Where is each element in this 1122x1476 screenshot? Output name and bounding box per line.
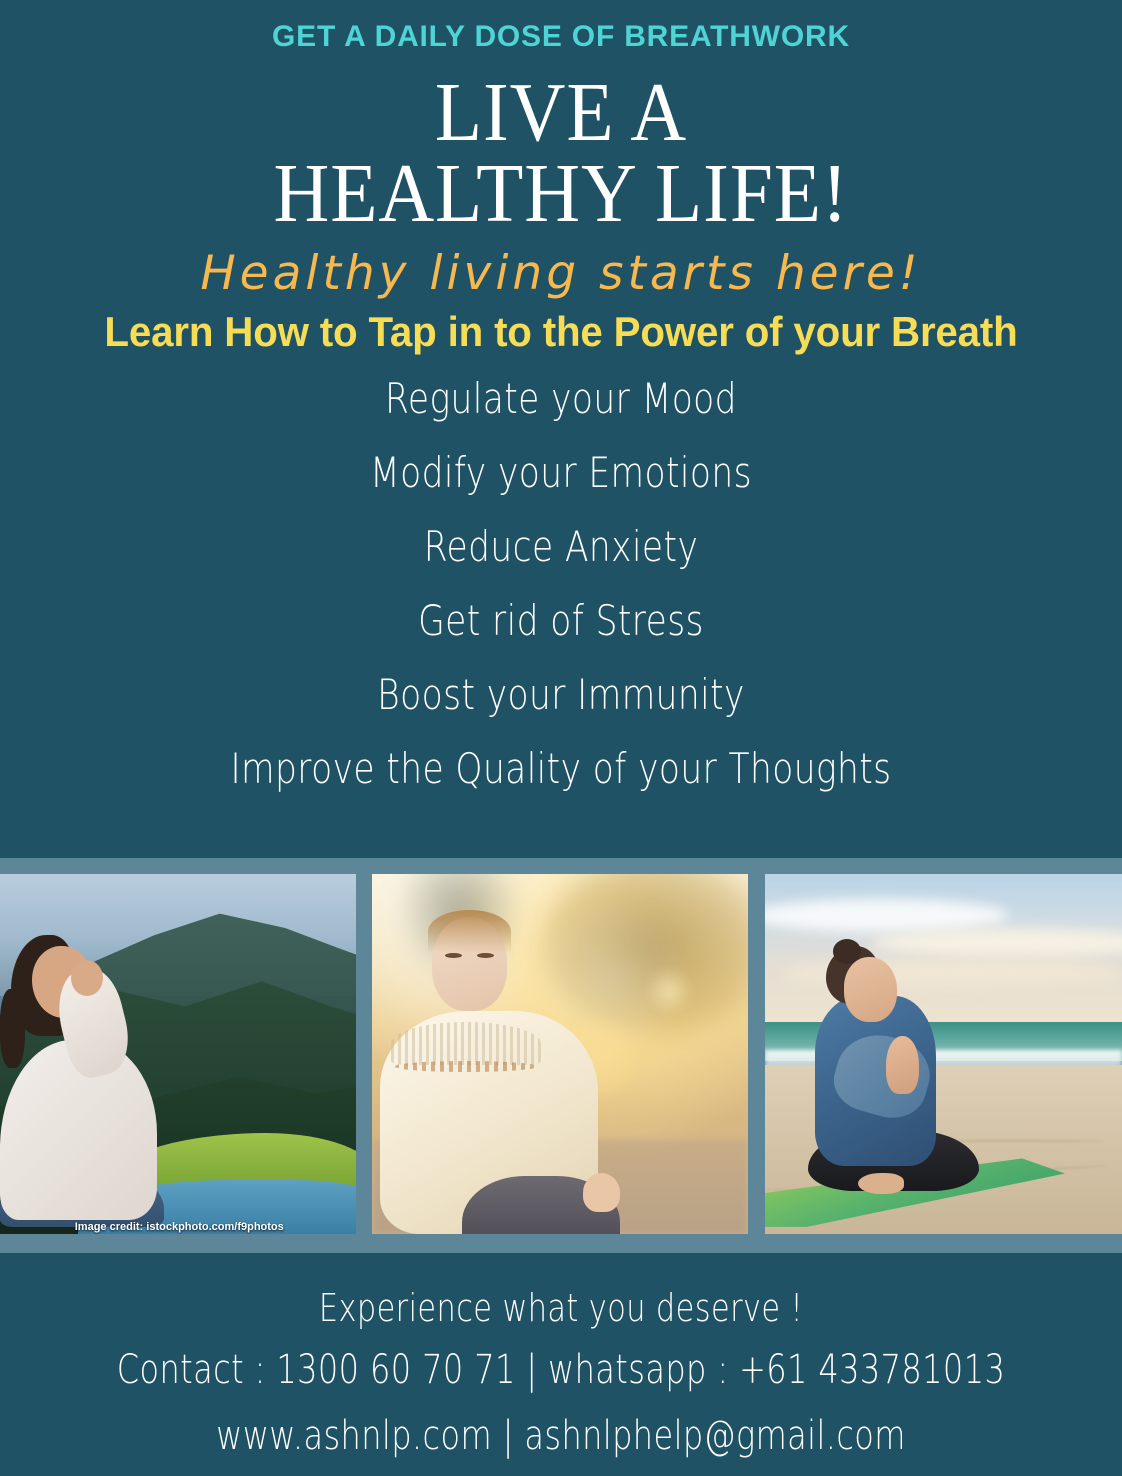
list-item: Get rid of Stress	[101, 600, 1021, 642]
hair-top	[428, 910, 511, 953]
headline-line-2: HEALTHY LIFE!	[45, 153, 1077, 234]
photo-strip: Image credit: istockphoto.com/f9photos	[0, 858, 1122, 1253]
list-item: Reduce Anxiety	[101, 526, 1021, 568]
list-item: Regulate your Mood	[101, 378, 1021, 420]
breathwork-poster: GET A DAILY DOSE OF BREATHWORK LIVE A HE…	[0, 0, 1122, 1476]
footer-tagline: Experience what you deserve !	[112, 1253, 1010, 1330]
hand-mudra	[583, 1173, 621, 1213]
braid	[0, 989, 25, 1068]
photo-meditation-golden-light	[372, 874, 748, 1234]
page-title: LIVE A HEALTHY LIFE!	[0, 72, 1122, 235]
subheadline-text: Learn How to Tap in to the Power of your…	[22, 310, 1099, 354]
head	[844, 957, 898, 1022]
list-item: Boost your Immunity	[101, 674, 1021, 716]
list-item: Improve the Quality of your Thoughts	[101, 748, 1021, 790]
bare-foot	[858, 1173, 904, 1195]
photo-meditation-beach-sunrise	[765, 874, 1122, 1234]
photo-2-canvas	[372, 874, 748, 1234]
footer-web-email[interactable]: www.ashnlp.com | ashnlphelp@gmail.com	[112, 1392, 1010, 1459]
headline-line-1: LIVE A	[45, 72, 1077, 153]
eyebrow-text: GET A DAILY DOSE OF BREATHWORK	[0, 22, 1122, 52]
tagline-text: Healthy living starts here!	[0, 249, 1122, 298]
header-section: GET A DAILY DOSE OF BREATHWORK LIVE A HE…	[0, 0, 1122, 858]
photo-3-canvas	[765, 874, 1122, 1234]
list-item: Modify your Emotions	[101, 452, 1021, 494]
footer-section: Experience what you deserve ! Contact : …	[0, 1253, 1122, 1476]
blouse-lace-yoke	[391, 1022, 541, 1065]
blouse-trim	[395, 1061, 538, 1072]
footer-contact[interactable]: Contact : 1300 60 70 71 | whatsapp : +61…	[112, 1330, 1010, 1393]
prayer-hands	[886, 1036, 918, 1094]
photo-nostril-breathing-mountain: Image credit: istockphoto.com/f9photos	[0, 874, 356, 1234]
benefits-list: Regulate your Mood Modify your Emotions …	[0, 378, 1122, 790]
image-credit-text: Image credit: istockphoto.com/f9photos	[75, 1221, 284, 1233]
photo-1-canvas: Image credit: istockphoto.com/f9photos	[0, 874, 356, 1234]
cloud-band-1	[765, 899, 1008, 931]
